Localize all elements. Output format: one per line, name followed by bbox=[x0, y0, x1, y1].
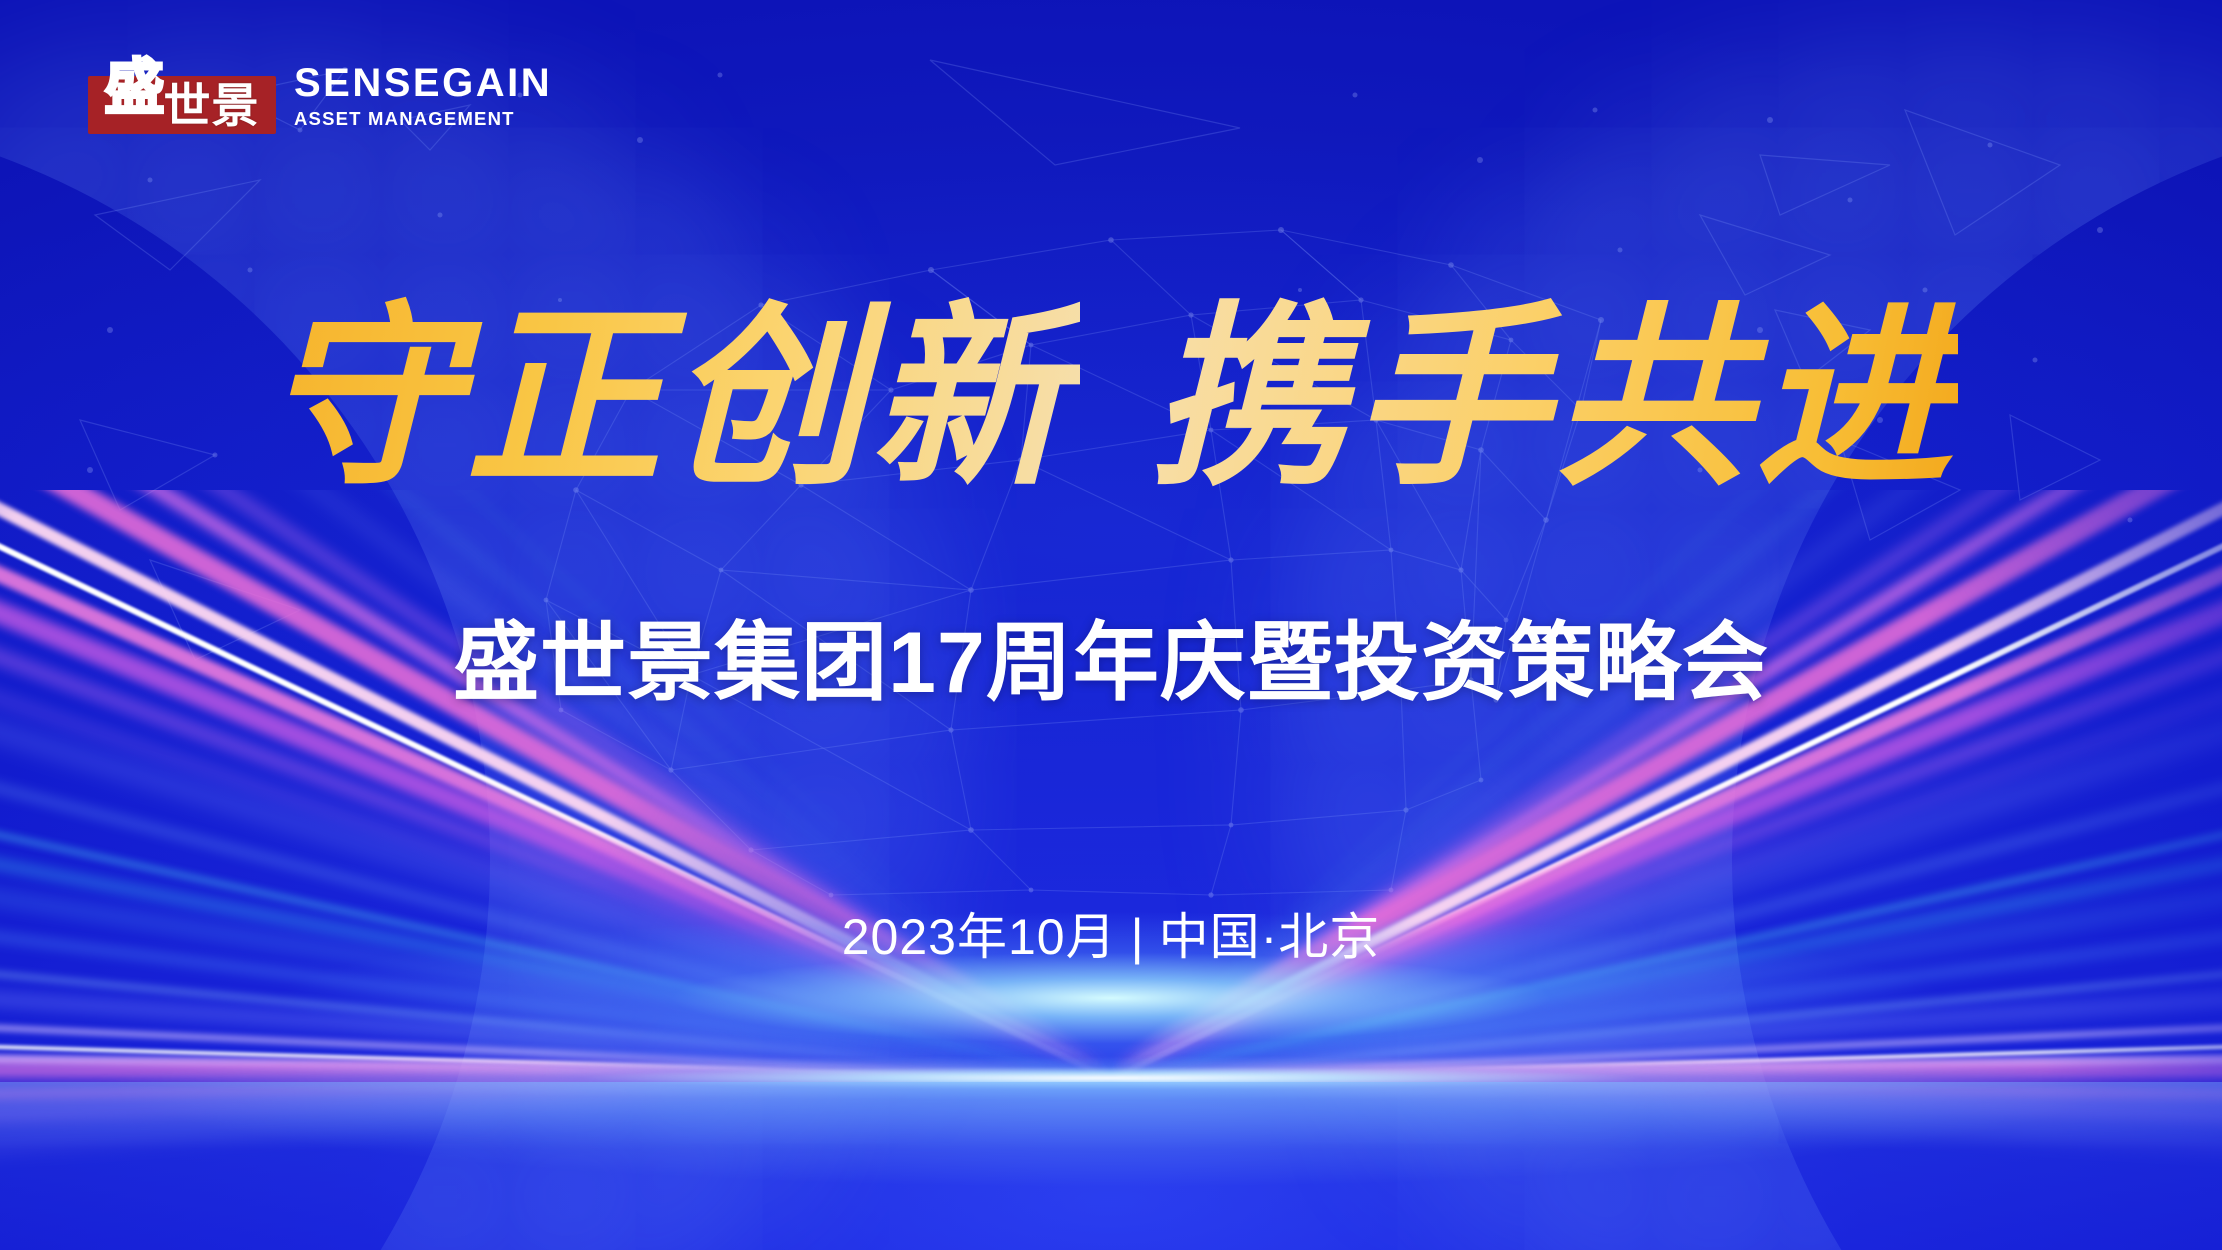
brand-logo[interactable]: 盛世景 SENSEGAIN ASSET MANAGEMENT bbox=[88, 48, 552, 134]
meta-separator: | bbox=[1117, 912, 1159, 962]
logo-char-sheng: 盛 bbox=[105, 58, 166, 118]
logo-chinese-name: 盛世景 bbox=[88, 48, 276, 134]
logo-name: SENSEGAIN bbox=[294, 63, 552, 105]
logo-wordmark: SENSEGAIN ASSET MANAGEMENT bbox=[294, 63, 552, 134]
event-meta: 2023年10月|中国·北京 bbox=[0, 912, 2222, 962]
headline-part-1: 守正创新 bbox=[264, 283, 1080, 513]
logo-char-shi: 世 bbox=[164, 83, 212, 130]
logo-seal-mark: 盛世景 bbox=[88, 48, 276, 134]
logo-tagline: ASSET MANAGEMENT bbox=[294, 107, 552, 130]
logo-char-jing: 景 bbox=[212, 83, 260, 130]
headline-calligraphy: 守正创新携手共进 bbox=[0, 300, 2222, 496]
headline-part-2: 携手共进 bbox=[1150, 283, 1958, 513]
event-location: 中国·北京 bbox=[1159, 909, 1381, 965]
event-subtitle: 盛世景集团17周年庆暨投资策略会 bbox=[0, 620, 2222, 706]
event-date: 2023年10月 bbox=[842, 909, 1117, 965]
event-banner: 盛世景 SENSEGAIN ASSET MANAGEMENT 守正创新携手共进 … bbox=[0, 0, 2222, 1250]
